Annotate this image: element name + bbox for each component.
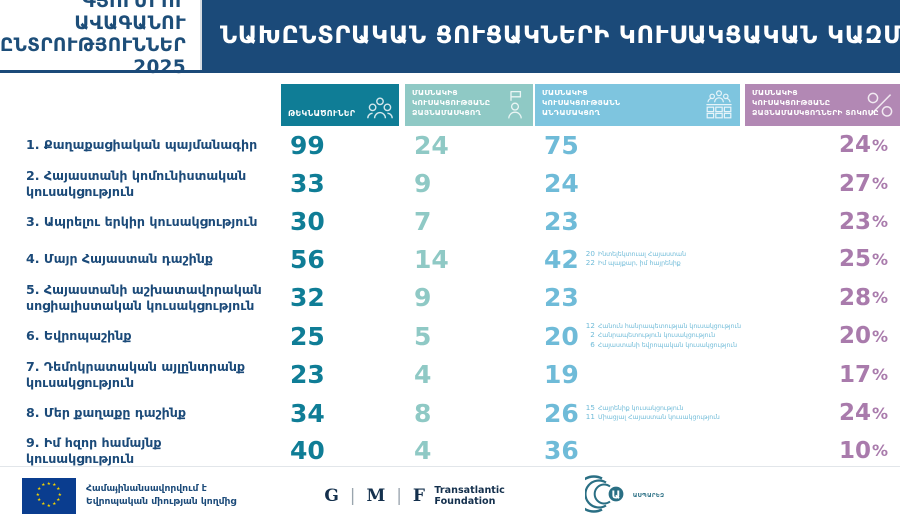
people-group-icon bbox=[367, 97, 393, 123]
member-breakdown-party: Իմ պայքար, իմ հայրենիք bbox=[598, 260, 681, 268]
candidates-count: 30 bbox=[281, 207, 405, 236]
affiliated-count: 8 bbox=[405, 399, 535, 428]
members-cell: 4220Ինտելեկտուալ Հայաստան22Իմ պայքար, իմ… bbox=[535, 245, 745, 274]
member-breakdown-count: 2 bbox=[586, 331, 595, 339]
members-cell: 75 bbox=[535, 131, 745, 160]
percent-cell: 20% bbox=[745, 323, 900, 349]
party-name: 2. Հայաստանի կոմունիստական կուսակցությու… bbox=[0, 168, 281, 199]
percent-cell: 28% bbox=[745, 285, 900, 311]
data-table-body: 1. Քաղաքացիական պայմանագիր99247524%2. Հա… bbox=[0, 126, 900, 469]
percent-sign: % bbox=[872, 174, 888, 193]
party-name: 3. Ապրելու երկիր կուսակցություն bbox=[0, 214, 281, 230]
eu-star-icon: ★ bbox=[36, 494, 40, 499]
member-breakdown-count: 6 bbox=[586, 341, 595, 349]
eu-star-icon: ★ bbox=[37, 499, 41, 504]
member-breakdown-party: Հանրապետություն կուսակցություն bbox=[598, 332, 715, 340]
eu-star-icon: ★ bbox=[41, 484, 45, 489]
members-count: 75 bbox=[544, 131, 579, 160]
party-name: 9. Իմ հզոր համայնք կուսակցություն bbox=[0, 435, 281, 466]
assembly-building-icon bbox=[704, 89, 734, 123]
percent-value: 23 bbox=[839, 209, 871, 235]
percent-cell: 24% bbox=[745, 132, 900, 158]
column-header-affiliated: ՄԱՍՆԱԿԻՑ ԿՈՒՍԱԿՑՈՒԹՅԱՆԸ ՁԱՅՆԱՄԱՍԿՑՈՂ bbox=[405, 84, 533, 126]
column-header-candidates: ԹԵԿՆԱԾՈՒՆԵՐ bbox=[281, 84, 399, 126]
member-breakdown-party: Հայրենիք կուսակցություն bbox=[598, 405, 683, 413]
member-breakdown-notes: 15Հայրենիք կուսակցություն11Միացյալ Հայաս… bbox=[586, 404, 720, 422]
header-left-block: ԳՅՈՒՄՐՈՒ ԱՎԱԳԱՆՈՒ ԸՆՏՐՈՒԹՅՈՒՆՆԵՐ 2025 bbox=[0, 0, 200, 70]
eu-funding-text: Համաֈինանսավորվում է Եվրոպական միության … bbox=[86, 483, 236, 508]
table-row[interactable]: 3. Ապրելու երկիր կուսակցություն3072323% bbox=[0, 203, 900, 240]
gmf-name: Transatlantic Foundation bbox=[434, 485, 504, 508]
column-header-percent: ՄԱՍՆԱԿԻՑ ԿՈՒՍԱԿՑՈՒԹՅԱՆԸ ՁԱՅՆԱՄԱՍԿՑՈՂՆԵՐԻ… bbox=[745, 84, 900, 126]
gmf-letter-m: M bbox=[366, 486, 385, 506]
table-row[interactable]: 6. Եվրոպաշինք2552012Հանուն հանրապետությա… bbox=[0, 317, 900, 355]
percent-sign: % bbox=[872, 136, 888, 155]
member-breakdown-count: 12 bbox=[586, 322, 595, 330]
percent-value: 10 bbox=[839, 438, 871, 464]
member-breakdown-party: Հանուն հանրապետության կուսակցություն bbox=[598, 323, 741, 331]
gmf-logo: G | M | F Transatlantic Foundation bbox=[324, 485, 505, 508]
table-row[interactable]: 5. Հայաստանի աշխատավորական սոցիալիստական… bbox=[0, 278, 900, 317]
header-underline bbox=[0, 70, 900, 73]
percent-cell: 17% bbox=[745, 362, 900, 388]
asparez-name: ԱՍՊԱՐԵԶ bbox=[633, 493, 665, 499]
members-count: 20 bbox=[544, 322, 579, 351]
members-cell: 2615Հայրենիք կուսակցություն11Միացյալ Հայ… bbox=[535, 399, 745, 428]
gmf-letter-f: F bbox=[413, 486, 426, 506]
members-count: 24 bbox=[544, 169, 579, 198]
member-breakdown-party: Հայաստանի եվրոպական կուսակցություն bbox=[598, 342, 737, 350]
members-cell: 19 bbox=[535, 360, 745, 389]
member-breakdown-line: 6Հայաստանի եվրոպական կուսակցություն bbox=[586, 341, 741, 350]
members-cell: 23 bbox=[535, 283, 745, 312]
percent-sign: % bbox=[872, 327, 888, 346]
member-breakdown-count: 11 bbox=[586, 413, 595, 421]
member-breakdown-line: 11Միացյալ Հայաստան կուսակցություն bbox=[586, 413, 720, 422]
party-name: 8. Մեր քաղաքը դաշինք bbox=[0, 405, 281, 421]
eu-star-icon: ★ bbox=[56, 499, 60, 504]
affiliated-count: 14 bbox=[405, 245, 535, 274]
percent-sign: % bbox=[872, 212, 888, 231]
member-breakdown-count: 15 bbox=[586, 404, 595, 412]
candidates-count: 32 bbox=[281, 283, 405, 312]
svg-text:Ա: Ա bbox=[611, 488, 620, 501]
percent-icon bbox=[866, 91, 894, 123]
percent-value: 28 bbox=[839, 285, 871, 311]
members-count: 26 bbox=[544, 399, 579, 428]
table-row[interactable]: 7. Դեմոկրատական այլընտրանք կուսակցությու… bbox=[0, 355, 900, 394]
party-name: 4. Մայր Հայաստան դաշինք bbox=[0, 251, 281, 267]
affiliated-count: 9 bbox=[405, 283, 535, 312]
percent-value: 20 bbox=[839, 323, 871, 349]
eu-star-icon: ★ bbox=[37, 488, 41, 493]
percent-sign: % bbox=[872, 250, 888, 269]
eu-star-icon: ★ bbox=[52, 503, 56, 508]
members-cell: 24 bbox=[535, 169, 745, 198]
members-cell: 36 bbox=[535, 436, 745, 465]
percent-sign: % bbox=[872, 404, 888, 423]
page-footer: ★★★★★★★★★★★★ Համաֈինանսավորվում է Եվրոպա… bbox=[0, 466, 900, 525]
percent-sign: % bbox=[872, 288, 888, 307]
page-title: ՆԱԽԸՆՏՐԱԿԱՆ ՑՈՒՑԱԿՆԵՐԻ ԿՈՒՍԱԿՑԱԿԱՆ ԿԱԶՄԸ bbox=[220, 21, 900, 49]
eu-star-icon: ★ bbox=[41, 503, 45, 508]
members-count: 19 bbox=[544, 360, 579, 389]
asparez-mark-icon: Ա bbox=[585, 474, 631, 518]
party-name: 1. Քաղաքացիական պայմանագիր bbox=[0, 137, 281, 153]
gmf-bar-2: | bbox=[396, 486, 402, 506]
infographic-page: ԳՅՈՒՄՐՈՒ ԱՎԱԳԱՆՈՒ ԸՆՏՐՈՒԹՅՈՒՆՆԵՐ 2025 ՆԱ… bbox=[0, 0, 900, 525]
column-header-candidates-label: ԹԵԿՆԱԾՈՒՆԵՐ bbox=[288, 109, 355, 119]
table-row[interactable]: 9. Իմ հզոր համայնք կուսակցություն4043610… bbox=[0, 432, 900, 469]
members-count: 36 bbox=[544, 436, 579, 465]
percent-cell: 23% bbox=[745, 209, 900, 235]
column-header-members: ՄԱՍՆԱԿԻՑ ԿՈՒՍԱԿՑՈՒԹՅԱՆՆ ԱՆԴԱՄԱԿՑՈՂ bbox=[535, 84, 740, 126]
percent-sign: % bbox=[872, 441, 888, 460]
party-name: 6. Եվրոպաշինք bbox=[0, 328, 281, 344]
member-breakdown-count: 22 bbox=[586, 259, 595, 267]
percent-value: 27 bbox=[839, 171, 871, 197]
percent-value: 24 bbox=[839, 400, 871, 426]
party-name: 5. Հայաստանի աշխատավորական սոցիալիստական… bbox=[0, 282, 281, 313]
affiliated-count: 24 bbox=[405, 131, 535, 160]
member-breakdown-notes: 12Հանուն հանրապետության կուսակցություն2Հ… bbox=[586, 322, 741, 350]
gmf-initials: G | M | F bbox=[324, 486, 425, 506]
affiliated-count: 9 bbox=[405, 169, 535, 198]
header-right-block: ՆԱԽԸՆՏՐԱԿԱՆ ՑՈՒՑԱԿՆԵՐԻ ԿՈՒՍԱԿՑԱԿԱՆ ԿԱԶՄԸ bbox=[202, 0, 900, 70]
table-row[interactable]: 8. Մեր քաղաքը դաշինք3482615Հայրենիք կուս… bbox=[0, 394, 900, 432]
members-count: 23 bbox=[544, 283, 579, 312]
column-headers: ԹԵԿՆԱԾՈՒՆԵՐ ՄԱՍՆԱԿԻՑ ԿՈՒՍԱԿՑՈՒԹՅԱՆԸ ՁԱՅՆ… bbox=[0, 84, 900, 126]
members-count: 23 bbox=[544, 207, 579, 236]
party-name: 7. Դեմոկրատական այլընտրանք կուսակցությու… bbox=[0, 359, 281, 390]
table-row[interactable]: 2. Հայաստանի կոմունիստական կուսակցությու… bbox=[0, 164, 900, 203]
person-flag-icon bbox=[507, 89, 527, 123]
election-title: ԳՅՈՒՄՐՈՒ ԱՎԱԳԱՆՈՒ ԸՆՏՐՈՒԹՅՈՒՆՆԵՐ 2025 bbox=[0, 0, 186, 79]
asparez-logo: Ա ԱՍՊԱՐԵԶ bbox=[585, 474, 665, 518]
percent-value: 24 bbox=[839, 132, 871, 158]
percent-cell: 10% bbox=[745, 438, 900, 464]
affiliated-count: 5 bbox=[405, 322, 535, 351]
eu-flag-icon: ★★★★★★★★★★★★ bbox=[22, 478, 76, 514]
gmf-bar-1: | bbox=[350, 486, 356, 506]
candidates-count: 25 bbox=[281, 322, 405, 351]
table-row[interactable]: 1. Քաղաքացիական պայմանագիր99247524% bbox=[0, 126, 900, 164]
gmf-letter-g: G bbox=[324, 486, 339, 506]
candidates-count: 23 bbox=[281, 360, 405, 389]
candidates-count: 56 bbox=[281, 245, 405, 274]
affiliated-count: 7 bbox=[405, 207, 535, 236]
member-breakdown-line: 2Հանրապետություն կուսակցություն bbox=[586, 331, 741, 340]
members-cell: 2012Հանուն հանրապետության կուսակցություն… bbox=[535, 322, 745, 351]
eu-star-icon: ★ bbox=[47, 483, 51, 488]
percent-cell: 24% bbox=[745, 400, 900, 426]
candidates-count: 34 bbox=[281, 399, 405, 428]
percent-value: 25 bbox=[839, 246, 871, 272]
member-breakdown-notes: 20Ինտելեկտուալ Հայաստան22Իմ պայքար, իմ հ… bbox=[586, 250, 686, 268]
member-breakdown-line: 12Հանուն հանրապետության կուսակցություն bbox=[586, 322, 741, 331]
table-row[interactable]: 4. Մայր Հայաստան դաշինք56144220Ինտելեկտո… bbox=[0, 240, 900, 278]
percent-sign: % bbox=[872, 365, 888, 384]
member-breakdown-line: 22Իմ պայքար, իմ հայրենիք bbox=[586, 259, 686, 268]
affiliated-count: 4 bbox=[405, 360, 535, 389]
candidates-count: 33 bbox=[281, 169, 405, 198]
member-breakdown-line: 20Ինտելեկտուալ Հայաստան bbox=[586, 250, 686, 259]
percent-cell: 27% bbox=[745, 171, 900, 197]
percent-cell: 25% bbox=[745, 246, 900, 272]
affiliated-count: 4 bbox=[405, 436, 535, 465]
members-cell: 23 bbox=[535, 207, 745, 236]
member-breakdown-line: 15Հայրենիք կուսակցություն bbox=[586, 404, 720, 413]
member-breakdown-count: 20 bbox=[586, 250, 595, 258]
candidates-count: 99 bbox=[281, 131, 405, 160]
page-header: ԳՅՈՒՄՐՈՒ ԱՎԱԳԱՆՈՒ ԸՆՏՐՈՒԹՅՈՒՆՆԵՐ 2025 ՆԱ… bbox=[0, 0, 900, 70]
candidates-count: 40 bbox=[281, 436, 405, 465]
member-breakdown-party: Միացյալ Հայաստան կուսակցություն bbox=[598, 414, 720, 422]
members-count: 42 bbox=[544, 245, 579, 274]
percent-value: 17 bbox=[839, 362, 871, 388]
eu-star-icon: ★ bbox=[47, 505, 51, 510]
member-breakdown-party: Ինտելեկտուալ Հայաստան bbox=[598, 251, 686, 259]
